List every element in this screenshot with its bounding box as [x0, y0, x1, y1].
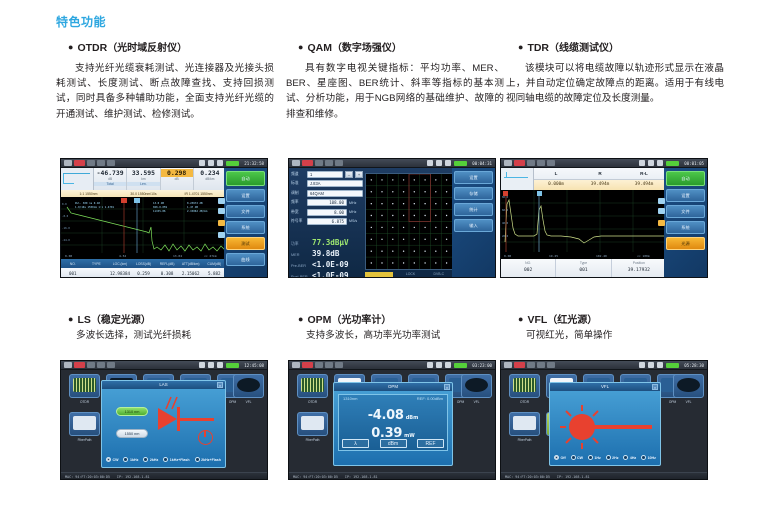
- link-icon: [427, 362, 433, 368]
- otdr-trace-line: [67, 207, 225, 251]
- opm-unit-dbm: dBm: [406, 415, 419, 421]
- trace-mini-icon: [63, 173, 74, 184]
- otdr-button-curve[interactable]: 曲线: [226, 253, 265, 266]
- feature-name-otdr: OTDR: [77, 42, 107, 54]
- qam-mode-icon: [302, 160, 313, 166]
- otdr-clock: 21:32:58: [244, 161, 264, 166]
- page-root: 特色功能 ●OTDR（光时域反射仪） 支持光纤光缆衰耗测试、光连接器及光接头损耗…: [0, 0, 760, 522]
- feature-desc-qam: 具有数字电视关键指标：平均功率、MER、BER、星座图、BER统计、斜率等指标的…: [286, 61, 504, 122]
- close-icon[interactable]: ×: [444, 384, 450, 390]
- ls-wavelength-1310[interactable]: 1310 nm: [116, 407, 148, 416]
- svg-text:026.0.059: 026.0.059: [153, 205, 167, 209]
- opm-reference: REF: 0.00dBm: [417, 396, 443, 401]
- otdr-summary-cell: 33.595 km Len.: [127, 168, 160, 190]
- otdr-side-buttons: 自动 设置 文件 系统 测试 曲线: [224, 168, 267, 278]
- network-icon: [208, 362, 214, 368]
- qam-measurement-panel: 功率 77.3dBμV MER 39.8dB Pre-BER <1.0E-09 …: [291, 238, 371, 278]
- qam-field-bandwidth[interactable]: 带宽 8.00 MHz: [291, 209, 363, 216]
- status-icons-left: [504, 160, 555, 166]
- ls-modal-titlebar: LAS ×: [102, 381, 225, 389]
- ls-mode-cw[interactable]: CW: [106, 457, 119, 462]
- usb-icon: [325, 362, 333, 368]
- tdr-event-table[interactable]: NO. 002 Type 001 Position 39.17932: [501, 259, 666, 278]
- vfl-mac-address: MAC: 94:F7:20:03:00:D5: [505, 475, 550, 479]
- svg-text:<< 27km: << 27km: [204, 254, 217, 258]
- signal-icon: [64, 362, 72, 368]
- sd-card-icon: [87, 160, 95, 166]
- svg-text:60.0: 60.0: [502, 208, 509, 212]
- svg-text:11155.86: 11155.86: [153, 209, 166, 213]
- tdr-button-setup[interactable]: 设置: [666, 189, 705, 202]
- brightness-icon: [107, 160, 115, 166]
- wifi-icon: [657, 160, 663, 166]
- tdr-button-system[interactable]: 系统: [666, 221, 705, 234]
- opm-clock: 03:23:00: [472, 363, 492, 368]
- qam-button-stats[interactable]: 统计: [454, 203, 493, 216]
- tdr-cursor-value-l: 0.000m: [534, 180, 578, 190]
- status-icons-right: 03:23:00: [427, 362, 492, 368]
- sd-card-icon: [87, 362, 95, 368]
- device-screenshot-vfl: 05:28:30 OTDR QAM TDR LS: [500, 360, 708, 480]
- otdr-glyph-icon: [301, 378, 324, 392]
- qam-button-save[interactable]: 存储: [454, 187, 493, 200]
- svg-text:1.47 dB: 1.47 dB: [187, 205, 198, 209]
- feature-name-qam: QAM: [307, 42, 332, 54]
- sd-card-icon: [527, 160, 535, 166]
- brightness-icon: [335, 362, 343, 368]
- tdr-event-no-header: NO.: [501, 261, 555, 265]
- vfl-mode-1hz[interactable]: 1Hz: [588, 455, 601, 460]
- tdr-trace-plot[interactable]: 0.0019.25 102.40<< 100m 80.060.0 40.020.…: [501, 190, 666, 259]
- tdr-side-buttons: 自动 设置 文件 系统 光源: [664, 168, 707, 278]
- tdr-trace-svg: 0.0019.25 102.40<< 100m 80.060.0 40.020.…: [501, 190, 666, 259]
- otdr-param-range: 30.0 1550nm/10s: [116, 192, 171, 196]
- qam-measure-value-preber: <1.0E-09: [312, 260, 349, 269]
- feature-heading-opm: ●OPM（光功率计）: [298, 312, 504, 328]
- feature-heading-otdr: ●OTDR（光时域反射仪）: [68, 40, 274, 56]
- bullet-icon: ●: [518, 314, 523, 324]
- opm-modal-title: OPM: [388, 384, 398, 389]
- vfl-modal-title: VFL: [601, 384, 609, 389]
- lock-icon[interactable]: [218, 220, 225, 226]
- ls-mode-1khz[interactable]: 1kHz: [123, 457, 138, 462]
- battery-icon: [226, 363, 239, 368]
- otdr-summary-cell: 0.298 dB: [161, 168, 194, 190]
- svg-text:40.0: 40.0: [502, 221, 509, 225]
- opm-modal: OPM × 1310nm REF: 0.00dBm -4.08dBm 0.39m…: [333, 382, 453, 466]
- otdr-total-loss-badge: Total: [94, 182, 126, 186]
- vfl-mode-10hz[interactable]: 10Hz: [641, 455, 656, 460]
- ls-mac-address: MAC: 94:F7:20:03:00:D5: [65, 475, 110, 479]
- qam-label-symbolrate: 符号率: [291, 219, 307, 224]
- otdr-length-badge: Len.: [127, 182, 159, 186]
- feature-desc-tdr: 该模块可以将电缆故障以轨迹形式显示在液晶上，并自动定位确定故障点的距离。适用于有…: [506, 61, 724, 107]
- battery-icon: [666, 363, 679, 368]
- feature-name-tdr: TDR: [527, 42, 549, 54]
- otdr-button-test[interactable]: 测试: [226, 237, 265, 250]
- ls-mode-2khz-flash[interactable]: 2kHz+Flash: [195, 457, 221, 462]
- qam-unit-frequency: MHz: [347, 201, 363, 205]
- radio-dot-icon: [641, 455, 646, 460]
- svg-text:Pul. 300 ns 0.40: Pul. 300 ns 0.40: [75, 201, 100, 205]
- zoom-in-icon[interactable]: [658, 198, 665, 204]
- otdr-summary-cell: -46.739 dB Total: [94, 168, 127, 190]
- status-icons-left: [292, 362, 343, 368]
- radio-dot-icon: [588, 455, 593, 460]
- vfl-mode-label-10hz: 10Hz: [648, 456, 656, 460]
- vfl-ip-address: IP: 192.168.1.81: [557, 475, 590, 479]
- app-label-fiberpath: FiberPath: [510, 438, 539, 442]
- otdr-glyph-icon: [513, 378, 536, 392]
- ls-mode-2khz[interactable]: 2kHz: [143, 457, 158, 462]
- qam-input-channel[interactable]: 1: [307, 171, 343, 178]
- svg-text:-24.0: -24.0: [62, 238, 70, 242]
- qam-standard-label: DVB-C: [425, 272, 453, 276]
- feature-heading-vfl: ●VFL（红光源）: [518, 312, 724, 328]
- td-no: 001: [61, 271, 85, 276]
- th-type: TYPE: [85, 262, 109, 266]
- network-icon: [436, 362, 442, 368]
- tdr-event-type-value: 001: [556, 268, 610, 273]
- otdr-param-pulse: 1:1 1550nm: [61, 192, 116, 196]
- qam-unit-bandwidth: MHz: [347, 210, 363, 214]
- vfl-mode-2hz[interactable]: 2Hz: [606, 455, 619, 460]
- app-icon-vfl[interactable]: VFL: [233, 374, 264, 398]
- link-icon: [427, 160, 433, 166]
- qam-measure-label-preber: Pre-BER: [291, 264, 312, 268]
- status-icons-right: 21:32:58: [199, 160, 264, 166]
- otdr-body: -46.739 dB Total 33.595 km Len. 0.298 dB: [61, 168, 267, 278]
- signal-icon: [292, 362, 300, 368]
- qam-field-frequency[interactable]: 频率 108.00 MHz: [291, 199, 363, 206]
- tdr-overview-thumbnail[interactable]: [501, 168, 534, 190]
- opm-bottom-bar: MAC: 94:F7:20:03:00:D5 IP: 192.168.1.81: [289, 472, 495, 480]
- qam-select-modulation[interactable]: 64QAM: [307, 190, 363, 197]
- otdr-button-setup[interactable]: 设置: [226, 189, 265, 202]
- opm-button-wavelength[interactable]: λ: [342, 439, 369, 448]
- svg-text:4.52: 4.52: [119, 254, 126, 258]
- status-icons-right: 00:04:31: [427, 160, 492, 166]
- feature-name-vfl: VFL: [527, 314, 547, 326]
- feature-heading-tdr: ●TDR（线缆测试仪）: [518, 40, 724, 56]
- ls-mode-1khz-flash[interactable]: 1kHz+Flash: [163, 457, 189, 462]
- otdr-summary-bar: -46.739 dB Total 33.595 km Len. 0.298 dB: [61, 168, 226, 191]
- svg-text:20.0: 20.0: [502, 234, 509, 238]
- feature-column-tdr: ●TDR（线缆测试仪） 该模块可以将电缆故障以轨迹形式显示在液晶上，并自动定位确…: [506, 40, 724, 107]
- ls-modal-title: LAS: [159, 382, 167, 387]
- zoom-in-icon[interactable]: [218, 198, 225, 204]
- close-icon[interactable]: ×: [652, 384, 658, 390]
- device-screenshot-qam: 00:04:31 频道 1 – + 标准 J.83A 调制 64QAM: [288, 158, 496, 278]
- app-icon-otdr[interactable]: OTDR: [69, 374, 100, 398]
- signal-icon: [504, 160, 512, 166]
- usb-icon: [325, 160, 333, 166]
- svg-text:0.0: 0.0: [62, 202, 67, 206]
- tdr-event-type: Type 001: [556, 259, 611, 278]
- qam-measure-postber: Post-BER <1.0E-09: [291, 271, 371, 278]
- device-screenshot-otdr: 21:32:58 -46.739 dB Total: [60, 158, 268, 278]
- lock-icon[interactable]: [658, 220, 665, 226]
- feature-cn-ls: （稳定光源）: [91, 315, 151, 326]
- wifi-icon: [217, 160, 223, 166]
- tdr-event-type-header: Type: [556, 261, 610, 265]
- qam-constellation-footer: LOCK DVB-C: [365, 270, 453, 278]
- qam-body: 频道 1 – + 标准 J.83A 调制 64QAM 频率 108.00 MHz: [289, 168, 495, 278]
- trace-mini-line: [63, 173, 90, 174]
- tdr-button-auto[interactable]: 自动: [666, 171, 705, 186]
- vfl-mode-label-2hz: 2Hz: [612, 456, 618, 460]
- feature-cn-opm: （光功率计）: [331, 315, 391, 326]
- qam-constellation-diagram[interactable]: [365, 173, 453, 270]
- feature-column-otdr: ●OTDR（光时域反射仪） 支持光纤光缆衰耗测试、光连接器及光接头损耗测试、长度…: [56, 40, 274, 122]
- qam-measure-value-postber: <1.0E-09: [312, 271, 349, 278]
- vfl-mode-label-cw: CW: [577, 456, 583, 460]
- brightness-icon: [107, 362, 115, 368]
- otdr-total-loss-value: -46.739: [94, 169, 126, 177]
- otdr-length-value: 33.595: [127, 169, 159, 177]
- qam-label-channel: 频道: [291, 172, 307, 177]
- tdr-event-position-header: Position: [612, 261, 666, 265]
- th-loss: LOSS(dB): [132, 262, 156, 266]
- battery-icon: [226, 161, 239, 166]
- bullet-icon: ●: [298, 314, 303, 324]
- close-icon[interactable]: ×: [217, 382, 223, 388]
- th-no: NO.: [61, 262, 85, 266]
- otdr-overview-thumbnail[interactable]: [61, 168, 94, 190]
- feature-column-ls: ●LS（稳定光源） 多波长选择，测试光纤损耗: [56, 312, 274, 343]
- opm-home-body: OTDR QAM TDR LS OPM: [289, 370, 495, 480]
- opm-button-ref[interactable]: REF: [417, 439, 444, 448]
- vfl-modal: VFL × Off CW 1Hz: [549, 382, 661, 466]
- vfl-mode-label-4hz: 4Hz: [630, 456, 636, 460]
- opm-button-unit[interactable]: dBm: [380, 439, 407, 448]
- ls-mode-icon: [74, 362, 85, 368]
- opm-primary-reading: -4.08dBm: [339, 404, 447, 423]
- td-refl: 0.308: [155, 271, 179, 276]
- otdr-length-unit: km: [127, 177, 159, 181]
- qam-lock-status: LOCK: [396, 272, 424, 276]
- tdr-body: L R R-L 0.000m 39.494m 39.494m: [501, 168, 707, 278]
- feature-cn-tdr: （线缆测试仪）: [549, 43, 619, 54]
- pan-icon[interactable]: [218, 232, 225, 238]
- feature-heading-ls: ●LS（稳定光源）: [68, 312, 274, 328]
- qam-clock: 00:04:31: [472, 161, 492, 166]
- qam-measure-label-postber: Post-BER: [291, 275, 312, 278]
- td-att: 2.15062: [179, 271, 203, 276]
- svg-text:<< 100m: << 100m: [637, 254, 650, 258]
- radio-dot-icon: [143, 457, 148, 462]
- qam-field-channel[interactable]: 频道 1 – +: [291, 171, 363, 178]
- radio-dot-icon: [123, 457, 128, 462]
- svg-text:102.40: 102.40: [596, 254, 607, 258]
- opm-display-header: 1310nm REF: 0.00dBm: [339, 395, 447, 402]
- vfl-mode-4hz[interactable]: 4Hz: [623, 455, 636, 460]
- otdr-trace-plot[interactable]: 0.004.52 13.04<< 27km 0.0-8.0 -16.0-24.0…: [61, 197, 226, 259]
- fiberpath-glyph-icon: [513, 416, 536, 430]
- opm-mac-address: MAC: 94:F7:20:03:00:D5: [293, 475, 338, 479]
- app-icon-fiberpath[interactable]: FiberPath: [297, 412, 328, 436]
- otdr-param-bar: 1:1 1550nm 30.0 1550nm/10s IR 1.4701 155…: [61, 190, 226, 197]
- otdr-mode-icon: [74, 160, 85, 166]
- app-icon-otdr[interactable]: OTDR: [297, 374, 328, 398]
- app-icon-vfl[interactable]: VFL: [673, 374, 704, 398]
- ls-mode-label-2khz: 2kHz: [150, 458, 158, 462]
- battery-icon: [666, 161, 679, 166]
- cursor-a-marker[interactable]: [121, 198, 127, 203]
- feature-desc-opm: 支持多波长，高功率光功率测试: [306, 329, 504, 343]
- qam-select-standard[interactable]: J.83A: [307, 180, 363, 187]
- qam-parameter-panel: 频道 1 – + 标准 J.83A 调制 64QAM 频率 108.00 MHz: [291, 171, 363, 227]
- qam-field-modulation[interactable]: 调制 64QAM: [291, 190, 363, 197]
- ls-modal: LAS × 1310 nm 1550 nm CW: [101, 380, 226, 468]
- radio-dot-icon: [554, 455, 559, 460]
- qam-channel-decrement[interactable]: –: [345, 171, 353, 178]
- link-icon: [199, 362, 205, 368]
- otdr-button-system[interactable]: 系统: [226, 221, 265, 234]
- app-icon-fiberpath[interactable]: FiberPath: [509, 412, 540, 436]
- ls-mode-radio-group: CW 1kHz 2kHz 1kHz+Flash 2kHz+Flash: [106, 457, 221, 462]
- svg-text:-16.0: -16.0: [62, 226, 70, 230]
- tdr-cursor-value-rl: 39.494m: [622, 180, 666, 190]
- app-label-otdr: OTDR: [510, 400, 539, 404]
- qam-measure-value-power: 77.3dBμV: [312, 238, 349, 247]
- otdr-total-loss-unit: dB: [94, 177, 126, 181]
- qam-field-standard[interactable]: 标准 J.83A: [291, 180, 363, 187]
- qam-label-modulation: 调制: [291, 191, 307, 196]
- vfl-bottom-bar: MAC: 94:F7:20:03:00:D5 IP: 192.168.1.81: [501, 472, 707, 480]
- svg-text:19.25: 19.25: [549, 254, 558, 258]
- ls-mode-label-1khz-flash: 1kHz+Flash: [170, 458, 190, 462]
- sd-card-icon: [315, 160, 323, 166]
- laser-beam: [180, 418, 214, 421]
- vfl-modal-titlebar: VFL ×: [550, 383, 660, 391]
- opm-button-row: λ dBm REF: [342, 439, 444, 448]
- vfl-mode-label-off: Off: [561, 456, 566, 460]
- qam-label-frequency: 频率: [291, 200, 307, 205]
- qam-button-input[interactable]: 输入: [454, 219, 493, 232]
- app-label-vfl: VFL: [234, 400, 263, 404]
- qam-unit-symbolrate: MS/s: [347, 219, 363, 223]
- qam-measure-mer: MER 39.8dB: [291, 249, 371, 258]
- feature-column-qam: ●QAM（数字场强仪） 具有数字电视关键指标：平均功率、MER、BER、星座图、…: [286, 40, 504, 122]
- tdr-status-bar: 00:01:05: [501, 159, 707, 168]
- th-loc: LOC.(km): [108, 262, 132, 266]
- tdr-cursor-labels: L R R-L: [534, 168, 666, 180]
- vfl-status-bar: 05:28:30: [501, 361, 707, 370]
- network-icon: [436, 160, 442, 166]
- td-cum: 5.882: [202, 271, 226, 276]
- vfl-clock: 05:28:30: [684, 363, 704, 368]
- tdr-cursor-table: L R R-L 0.000m 39.494m 39.494m: [534, 168, 666, 190]
- qam-button-setup[interactable]: 设置: [454, 171, 493, 184]
- laser-beam: [594, 425, 652, 429]
- otdr-param-ior: IR 1.4701 1550nm: [171, 192, 226, 196]
- tdr-button-file[interactable]: 文件: [666, 205, 705, 218]
- radio-dot-icon: [106, 457, 111, 462]
- tdr-cursor-label-rl: R-L: [622, 168, 666, 179]
- qam-input-frequency[interactable]: 108.00: [307, 199, 347, 206]
- qam-channel-increment[interactable]: +: [355, 171, 363, 178]
- tdr-cursor-panel: L R R-L 0.000m 39.494m 39.494m: [501, 168, 666, 191]
- zoom-out-icon[interactable]: [218, 208, 225, 214]
- vfl-mode-cw[interactable]: CW: [571, 455, 584, 460]
- app-label-otdr: OTDR: [298, 400, 327, 404]
- fiberpath-glyph-icon: [301, 416, 324, 430]
- otdr-button-auto[interactable]: 自动: [226, 171, 265, 186]
- tdr-cursor-label-r: R: [578, 168, 622, 179]
- qam-side-buttons: 设置 存储 统计 输入: [452, 168, 495, 278]
- tdr-cursor-right-marker[interactable]: [537, 191, 542, 196]
- ls-bottom-bar: MAC: 94:F7:20:03:00:D5 IP: 192.168.1.81: [61, 472, 267, 480]
- link-icon: [639, 160, 645, 166]
- radio-dot-icon: [571, 455, 576, 460]
- signal-icon: [504, 362, 512, 368]
- ls-wavelength-1550[interactable]: 1550 nm: [116, 429, 148, 438]
- app-icon-vfl[interactable]: VFL: [461, 374, 492, 398]
- opm-mode-icon: [302, 362, 313, 368]
- status-icons-right: 00:01:05: [639, 160, 704, 166]
- vfl-glyph-icon: [465, 378, 488, 392]
- cursor-b-marker[interactable]: [134, 198, 140, 203]
- app-label-vfl: VFL: [674, 400, 703, 404]
- device-screenshot-tdr: 00:01:05 L R R-L 0.000m 39.494m: [500, 158, 708, 278]
- radio-dot-icon: [195, 457, 200, 462]
- app-icon-otdr[interactable]: OTDR: [509, 374, 540, 398]
- qam-input-bandwidth[interactable]: 8.00: [307, 209, 347, 216]
- opm-modal-titlebar: OPM ×: [334, 383, 452, 391]
- device-screenshot-opm: 03:23:00 OTDR QAM TDR LS: [288, 360, 496, 480]
- status-icons-left: [292, 160, 343, 166]
- feature-desc-vfl: 可视红光，简单操作: [526, 329, 724, 343]
- radio-dot-icon: [623, 455, 628, 460]
- qam-measure-label-power: 功率: [291, 242, 312, 247]
- app-label-otdr: OTDR: [70, 400, 99, 404]
- vfl-mode-off[interactable]: Off: [554, 455, 566, 460]
- otdr-button-file[interactable]: 文件: [226, 205, 265, 218]
- tdr-cursor-value-r: 39.494m: [578, 180, 622, 190]
- wifi-icon: [445, 160, 451, 166]
- link-icon: [639, 362, 645, 368]
- td-loc: 12.98384: [108, 271, 132, 276]
- qam-field-symbolrate[interactable]: 符号率 6.875 MS/s: [291, 218, 363, 225]
- feature-desc-otdr: 支持光纤光缆衰耗测试、光连接器及光接头损耗测试、长度测试、断点故障查找、支持回损…: [56, 61, 274, 122]
- otdr-table-row[interactable]: 001 12.98384 0.259 0.308 2.15062 5.882: [61, 268, 226, 278]
- usb-icon: [537, 362, 545, 368]
- opm-value-dbm: -4.08: [368, 408, 404, 423]
- feature-column-vfl: ●VFL（红光源） 可视红光，简单操作: [506, 312, 724, 343]
- brightness-icon: [335, 160, 343, 166]
- zoom-out-icon[interactable]: [658, 208, 665, 214]
- usb-icon: [537, 160, 545, 166]
- ls-mode-label-cw: CW: [113, 458, 119, 462]
- laser-arrows-icon: [162, 395, 180, 411]
- power-toggle-icon[interactable]: [198, 430, 213, 445]
- qam-measure-power: 功率 77.3dBμV: [291, 238, 371, 247]
- otdr-summary-cell: 0.234 dB/km: [194, 168, 226, 190]
- feature-heading-qam: ●QAM（数字场强仪）: [298, 40, 504, 56]
- usb-icon: [97, 160, 105, 166]
- status-icons-left: [64, 160, 115, 166]
- qam-measure-value-mer: 39.8dB: [312, 249, 339, 258]
- tdr-button-lightsource[interactable]: 光源: [666, 237, 705, 250]
- opm-wavelength: 1310nm: [343, 396, 357, 401]
- tdr-cursor-label-l: L: [534, 168, 578, 179]
- signal-icon: [292, 160, 300, 166]
- app-icon-fiberpath[interactable]: FiberPath: [69, 412, 100, 436]
- ls-ip-address: IP: 192.168.1.81: [117, 475, 150, 479]
- qam-input-symbolrate[interactable]: 6.875: [307, 218, 347, 225]
- qam-measure-label-mer: MER: [291, 253, 312, 257]
